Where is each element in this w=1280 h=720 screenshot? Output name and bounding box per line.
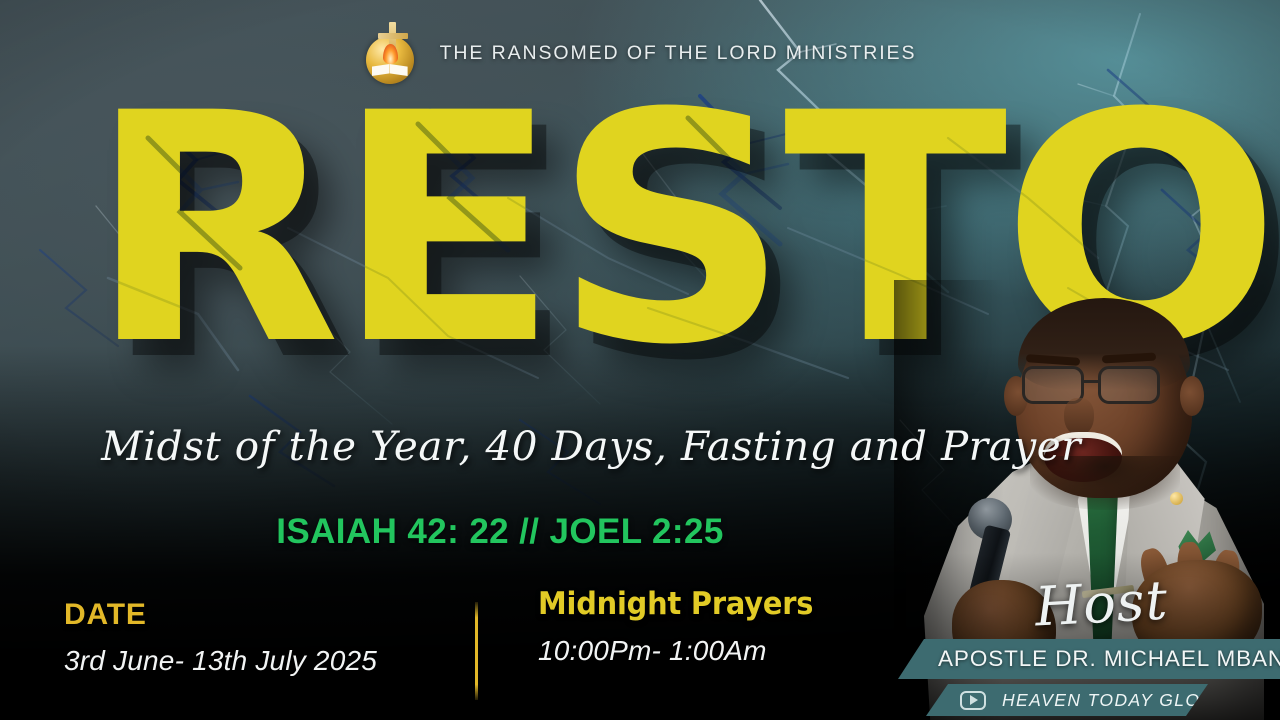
section-divider: [475, 602, 478, 700]
time-value: 10:00Pm- 1:00Am: [538, 635, 834, 667]
event-flyer: THE RANSOMED OF THE LORD MINISTRIES REST…: [0, 0, 1280, 720]
date-value: 3rd June- 13th July 2025: [64, 645, 377, 677]
speaker-name-banner: APOSTLE DR. MICHAEL MBAND: [898, 639, 1280, 679]
youtube-play-icon: [960, 691, 986, 710]
scripture-reference: ISAIAH 42: 22 // JOEL 2:25: [0, 512, 1000, 552]
time-label: Midnight Prayers: [538, 586, 813, 622]
speaker-name: APOSTLE DR. MICHAEL MBAND: [938, 646, 1280, 672]
date-block: DATE 3rd June- 13th July 2025: [64, 598, 377, 677]
date-label: DATE: [64, 598, 377, 632]
event-subtitle: Midst of the Year, 40 Days, Fasting and …: [101, 424, 1081, 470]
ministry-header: THE RANSOMED OF THE LORD MINISTRIES: [0, 22, 1280, 84]
ministry-logo-icon: [364, 22, 416, 84]
host-label: Host: [1033, 569, 1169, 639]
channel-banner[interactable]: HEAVEN TODAY GLOBAL: [926, 684, 1208, 716]
ministry-name: THE RANSOMED OF THE LORD MINISTRIES: [440, 42, 917, 65]
time-block: Midnight Prayers 10:00Pm- 1:00Am: [538, 586, 834, 667]
